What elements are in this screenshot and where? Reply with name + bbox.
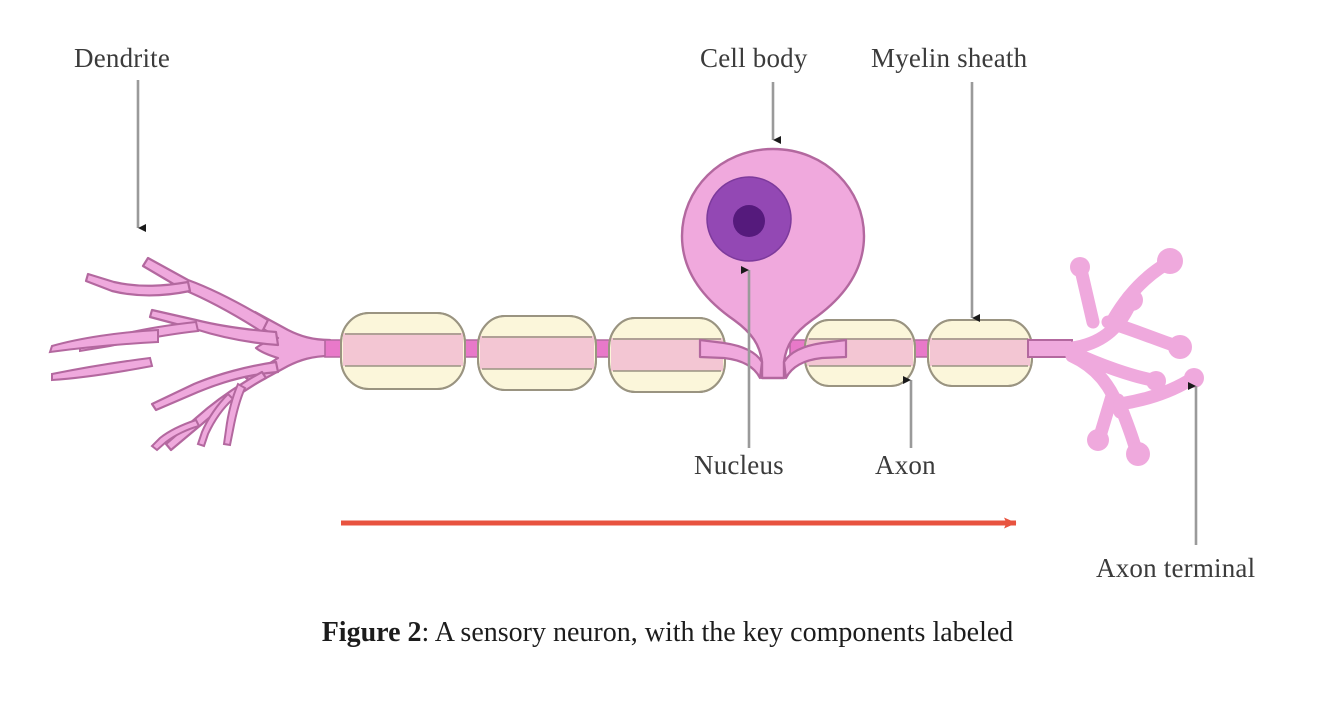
dendrite-group <box>50 258 330 450</box>
figure-caption-number: Figure 2 <box>322 617 422 648</box>
myelin-sheath-segment <box>928 320 1032 386</box>
axon-group <box>325 313 1072 392</box>
label-cell-body: Cell body <box>700 45 808 72</box>
axon-fiber-terminal-link <box>1028 340 1072 357</box>
label-axon-terminal: Axon terminal <box>1096 555 1255 582</box>
terminal-branch-mid <box>1108 322 1176 346</box>
neuron-diagram <box>0 0 1335 711</box>
figure-caption-text: : A sensory neuron, with the key compone… <box>422 617 1014 648</box>
figure-container: Dendrite Cell body Myelin sheath Nucleus… <box>0 0 1335 711</box>
label-axon: Axon <box>875 452 936 479</box>
dendrite-loop-left <box>50 330 158 352</box>
figure-caption: Figure 2: A sensory neuron, with the key… <box>0 617 1335 649</box>
nucleolus <box>733 205 765 237</box>
terminal-branch-vertical <box>1081 270 1093 322</box>
label-nucleus: Nucleus <box>694 452 784 479</box>
label-dendrite: Dendrite <box>74 45 170 72</box>
dendrite-loop-left-lower <box>52 358 152 380</box>
label-myelin-sheath: Myelin sheath <box>871 45 1027 72</box>
leader-lines <box>138 80 1196 545</box>
myelin-sheath-segment <box>478 316 596 390</box>
myelin-sheath-segment <box>341 313 465 389</box>
cell-body-group <box>682 149 864 378</box>
